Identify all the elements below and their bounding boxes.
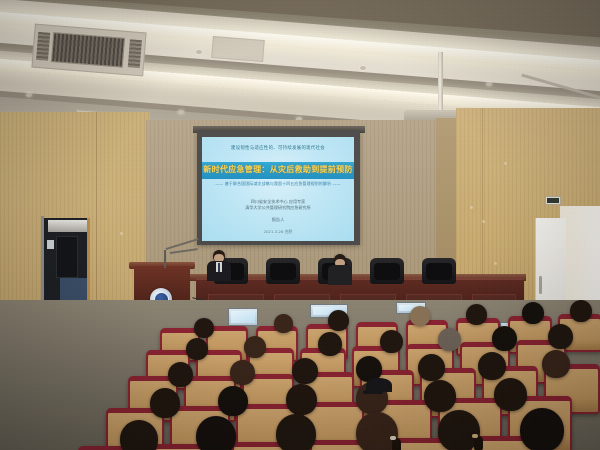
audience-head [542,350,570,378]
audience-head [328,310,349,331]
projected-slide: 建设韧性与适应性的、可持续发展的现代社会 新时代应急管理：从灾后救助到提前预防 … [202,137,354,241]
ponytail [474,436,483,450]
downlight-icon [196,50,202,54]
exit-sign [545,196,561,205]
audience-head [168,362,193,387]
audience-head [276,414,316,450]
audience-seating-area [0,300,600,450]
audience-head [196,416,236,450]
downlight-icon [486,82,492,86]
downlight-icon [178,110,184,114]
hair-tie [472,434,478,438]
panel-chair [266,258,300,284]
baseball-cap-icon [366,378,392,392]
audience-head [478,352,506,380]
audience-head [418,354,445,381]
audience-head [150,388,180,418]
downlight-icon [360,66,366,70]
slide-speaker: 报告人 [202,217,354,223]
audience-head [520,408,564,450]
audience-head [318,332,342,356]
audience-head [218,386,248,416]
audience-head [244,336,266,358]
audience-head [186,338,208,360]
audience-head [286,384,317,415]
laptop[interactable] [228,308,258,326]
audience-head [410,306,430,326]
audience-head [380,330,403,353]
audience-head [292,358,318,384]
downlight-icon [26,93,32,97]
seated-panelist [327,254,353,284]
audience-head [570,300,592,322]
audience-head [522,302,544,324]
slide-title: 新时代应急管理：从灾后救助到提前预防 [202,164,354,175]
slide-header-text: 建设韧性与适应性的、可持续发展的现代社会 [202,145,354,151]
door-handle-icon[interactable] [539,276,542,294]
slide-subtitle: —— 基于联合国国际减灾战略与我国十四五应急管理规划的解析 —— [202,181,354,187]
ac-vent-icon [31,24,146,77]
audience-head [494,378,527,411]
audience-head [466,304,487,325]
presenter-at-podium [206,250,232,280]
audience-head [120,420,158,450]
projector-mount-pole [438,52,443,114]
audience-head [274,314,293,333]
audience-head [548,324,573,349]
audience-head [438,328,461,351]
projection-screen-frame: 建设韧性与适应性的、可持续发展的现代社会 新时代应急管理：从灾后救助到提前预防 … [197,131,360,245]
slide-date-location: 2021.3.26 合肥 [202,229,354,235]
audience-head [230,360,255,385]
panel-chair [422,258,456,284]
audience-head [424,380,456,412]
slide-affiliation-2: 清华大学公共管理研究院应急研究所 [202,205,354,211]
auditorium-photo: 建设韧性与适应性的、可持续发展的现代社会 新时代应急管理：从灾后救助到提前预防 … [0,0,600,450]
microphone-stand [164,250,166,268]
audience-head [194,318,214,338]
ceiling-access-hatch [211,36,265,62]
panel-chair [370,258,404,284]
audience-head [492,326,517,351]
hair-tie [390,436,396,440]
